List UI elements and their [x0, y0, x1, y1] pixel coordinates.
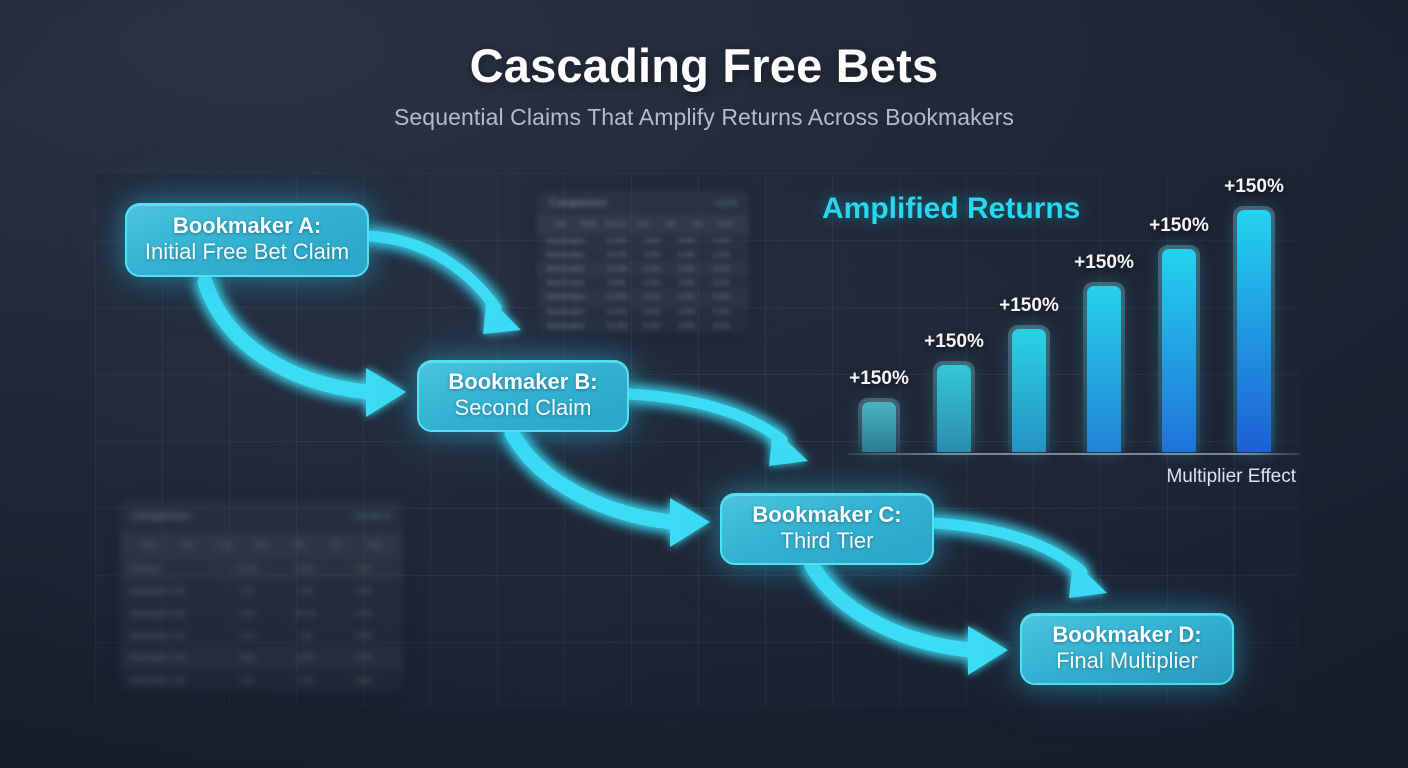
flow-card-bookmaker-b[interactable]: Bookmaker B: Second Claim	[417, 360, 629, 432]
bar-value-label: +150%	[924, 331, 984, 353]
column-header: Stk	[657, 221, 684, 228]
amplified-returns-chart: Amplified Returns +150% +150% +150% +150…	[848, 176, 1300, 488]
bar-2	[1008, 325, 1050, 452]
bar-4	[1158, 245, 1200, 452]
card-subtitle: Final Multiplier	[1056, 648, 1198, 674]
column-header: Cut	[629, 221, 656, 228]
bar-value-label: +150%	[849, 368, 909, 390]
card-title: Bookmaker C:	[752, 503, 901, 528]
table-row: Bookmaker 12.5% 2.5% 3.5% 5.5%	[537, 234, 749, 248]
column-header: Total	[712, 221, 739, 228]
background-table-badge: +26.50 %	[353, 511, 391, 521]
column-header: Rtn	[684, 221, 711, 228]
table-row: Bookmaker 0.05 2.25 2.50 5.5%	[120, 580, 403, 602]
chart-x-axis-label: Multiplier Effect	[1166, 466, 1296, 488]
chart-bars: +150% +150% +150% +150% +150% +150%	[858, 184, 1298, 452]
card-subtitle: Initial Free Bet Claim	[145, 239, 349, 265]
table-row: Bookmaker 14.5% 0.5% 3.5% 5.5%	[537, 305, 749, 319]
column-header: Odds	[574, 221, 601, 228]
flow-card-bookmaker-c[interactable]: Bookmaker C: Third Tier	[720, 493, 934, 565]
background-table-title: Comparison	[132, 511, 190, 522]
bar-fill	[1012, 329, 1046, 452]
table-row: Premium 12.5% 0.5% 5.5%	[120, 558, 403, 580]
background-table-badge: +21%	[714, 198, 737, 208]
bar-5	[1233, 206, 1275, 452]
background-table-header: Comparison +26.50 %	[120, 500, 403, 533]
table-row: Bookmaker 1.00 2.25 2.00 6.0%	[120, 670, 403, 692]
background-table-columns: Site Odds Bonus Cut Stk Rtn Total	[537, 215, 749, 233]
bar-fill	[1237, 210, 1271, 452]
table-row: Bookmaker 0.10 2.20 2.00 6.0%	[120, 625, 403, 647]
page-title: Cascading Free Bets	[0, 0, 1408, 93]
bar-value-label: +150%	[1074, 252, 1134, 274]
card-title: Bookmaker B:	[448, 370, 597, 395]
bar-value-label: +150%	[1149, 215, 1209, 237]
bar-fill	[1162, 249, 1196, 452]
background-table-bottom: Comparison +26.50 % One Two Cmp Bet Stk …	[120, 500, 403, 692]
table-row: Bookmaker 12.5% 1.5% 4.5% 6.5%	[537, 262, 749, 276]
page-subtitle: Sequential Claims That Amplify Returns A…	[0, 93, 1408, 131]
bar-3	[1083, 282, 1125, 452]
bar-1	[933, 361, 975, 452]
card-title: Bookmaker A:	[173, 214, 321, 239]
bar-group: +150%	[858, 398, 900, 452]
card-subtitle: Third Tier	[781, 528, 874, 554]
column-header: Cmp	[205, 542, 243, 549]
background-table-body: Bookmaker 12.5% 2.5% 3.5% 5.5% Bookmaker…	[537, 234, 749, 333]
chart-baseline-axis	[848, 453, 1300, 455]
flow-card-bookmaker-a[interactable]: Bookmaker A: Initial Free Bet Claim	[125, 203, 369, 277]
table-row: Bookmaker 10.0% 3.5% 3.4% 4.5%	[537, 248, 749, 262]
bar-group: +150%	[1008, 325, 1050, 452]
table-row: Bookmaker 12.5% 2.5% 2.5% 5.0%	[537, 290, 749, 304]
flow-card-bookmaker-d[interactable]: Bookmaker D: Final Multiplier	[1020, 613, 1234, 685]
card-title: Bookmaker D:	[1052, 623, 1201, 648]
bar-fill	[1087, 286, 1121, 452]
bar-fill	[862, 402, 896, 452]
background-table-header: Comparison +21%	[537, 191, 749, 215]
bar-value-label: +150%	[999, 295, 1059, 317]
column-header: Bet	[243, 542, 281, 549]
bar-group: +150%	[933, 361, 975, 452]
bar-0	[858, 398, 900, 452]
background-table-title: Comparison	[549, 198, 607, 209]
table-row: Bookmaker 5.00 5.55 20.7% 5.0%	[120, 602, 403, 624]
bar-group: +150%	[1158, 245, 1200, 452]
bar-value-label: +150%	[1224, 176, 1284, 198]
infographic-canvas: Cascading Free Bets Sequential Claims Th…	[0, 0, 1408, 768]
header: Cascading Free Bets Sequential Claims Th…	[0, 0, 1408, 131]
column-header: One	[130, 542, 168, 549]
bar-group: +150%	[1083, 282, 1125, 452]
column-header: Ret	[318, 542, 356, 549]
column-header: Two	[168, 542, 206, 549]
bar-group: +150%	[1233, 206, 1275, 452]
column-header: Total	[355, 542, 393, 549]
background-table-body: Premium 12.5% 0.5% 5.5% Bookmaker 0.05 2…	[120, 558, 403, 692]
bar-fill	[937, 365, 971, 452]
column-header: Site	[547, 221, 574, 228]
table-row: Bookmaker 9.5% 3.0% 3.5% 5.0%	[537, 276, 749, 290]
card-subtitle: Second Claim	[455, 395, 592, 421]
column-header: Stk	[280, 542, 318, 549]
background-table-columns: One Two Cmp Bet Stk Ret Total	[120, 533, 403, 558]
table-row: Bookmaker 1.00 3.00 0.0% 5.0%	[120, 647, 403, 669]
column-header: Bonus	[602, 221, 629, 228]
background-table-top: Comparison +21% Site Odds Bonus Cut Stk …	[537, 191, 749, 333]
table-row: Bookmaker 11.5% 0.5% 3.5% 4.5%	[537, 319, 749, 333]
